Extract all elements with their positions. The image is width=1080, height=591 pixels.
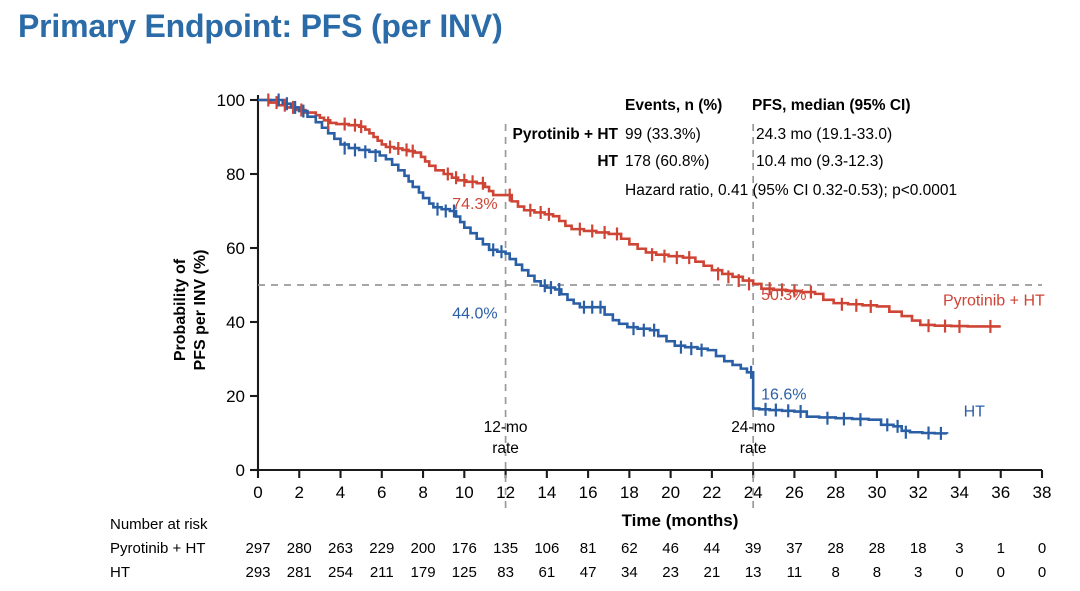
rate-label-24mo-control: 16.6% [761,387,806,404]
risk-count-cell: 280 [282,540,316,557]
risk-count-cell: 47 [571,564,605,581]
page-title: Primary Endpoint: PFS (per INV) [18,8,503,45]
risk-count-cell: 28 [819,540,853,557]
x-tick-label: 34 [950,483,969,502]
stat-median-control: 10.4 mo (9.3-12.3) [756,153,884,170]
risk-count-cell: 0 [1025,564,1059,581]
x-tick-label: 0 [253,483,262,502]
x-tick-label: 38 [1033,483,1052,502]
risk-count-cell: 21 [695,564,729,581]
stat-events-control: 178 (60.8%) [625,153,709,170]
x-tick-label: 28 [826,483,845,502]
landmark-label-24mo-line1: 24-mo [731,419,775,436]
risk-count-cell: 263 [324,540,358,557]
table-row: Pyrotinib + HT 2972802632292001761351068… [0,540,1080,564]
stat-col-header-median: PFS, median (95% CI) [752,97,910,114]
y-axis-title-line1: Probability of [172,258,189,361]
hazard-ratio-text: Hazard ratio, 0.41 (95% CI 0.32-0.53); p… [625,182,957,199]
number-at-risk-table: Number at risk Pyrotinib + HT 2972802632… [0,516,1080,591]
y-axis-title: Probability of PFS per INV (%) [172,250,209,371]
x-tick-label: 18 [620,483,639,502]
stat-median-treatment: 24.3 mo (19.1-33.0) [756,126,892,143]
rate-label-24mo-treatment: 50.3% [761,287,806,304]
x-tick-label: 30 [867,483,886,502]
rate-label-12mo-treatment: 74.3% [452,196,497,213]
x-tick-label: 14 [537,483,556,502]
x-tick-label: 22 [702,483,721,502]
risk-table-heading: Number at risk [110,516,208,533]
censor-marks [268,94,990,440]
risk-count-cell: 0 [984,564,1018,581]
risk-count-cell: 1 [984,540,1018,557]
risk-count-cell: 297 [241,540,275,557]
risk-count-cell: 293 [241,564,275,581]
km-survival-plot: Probability of PFS per INV (%) 020406080… [0,60,1080,530]
risk-count-cell: 3 [942,540,976,557]
risk-count-cell: 229 [365,540,399,557]
x-tick-label: 36 [991,483,1010,502]
risk-count-cell: 8 [860,564,894,581]
risk-count-cell: 254 [324,564,358,581]
risk-table-heading-row: Number at risk [0,516,1080,540]
risk-count-cell: 81 [571,540,605,557]
table-row: HT 2932812542111791258361473423211311883… [0,564,1080,588]
risk-count-cell: 39 [736,540,770,557]
risk-count-cell: 125 [447,564,481,581]
risk-count-cell: 23 [654,564,688,581]
curve-label-treatment: Pyrotinib + HT [943,292,1045,309]
risk-count-cell: 8 [819,564,853,581]
risk-count-cell: 106 [530,540,564,557]
risk-count-cell: 0 [942,564,976,581]
risk-count-cell: 46 [654,540,688,557]
risk-count-cell: 0 [1025,540,1059,557]
x-tick-label: 10 [455,483,474,502]
reference-lines [258,118,1042,508]
y-tick-label: 60 [226,239,245,258]
risk-count-cell: 62 [612,540,646,557]
x-tick-label: 2 [295,483,304,502]
y-tick-label: 100 [217,91,245,110]
risk-row-label-treatment: Pyrotinib + HT [110,540,205,557]
risk-count-cell: 281 [282,564,316,581]
risk-row-label-control: HT [110,564,130,581]
km-chart-container: Probability of PFS per INV (%) 020406080… [0,60,1080,530]
risk-count-cell: 13 [736,564,770,581]
y-tick-label: 80 [226,165,245,184]
risk-count-cell: 44 [695,540,729,557]
stat-events-treatment: 99 (33.3%) [625,126,701,143]
risk-count-cell: 211 [365,564,399,581]
x-tick-label: 32 [909,483,928,502]
risk-count-cell: 179 [406,564,440,581]
risk-count-cell: 18 [901,540,935,557]
risk-count-cell: 83 [489,564,523,581]
risk-count-cell: 3 [901,564,935,581]
risk-count-cell: 176 [447,540,481,557]
y-tick-label: 0 [236,461,245,480]
x-tick-label: 20 [661,483,680,502]
rate-label-12mo-control: 44.0% [452,305,497,322]
risk-count-cell: 34 [612,564,646,581]
risk-count-cell: 135 [489,540,523,557]
risk-count-cell: 11 [777,564,811,581]
stat-col-header-events: Events, n (%) [625,97,722,114]
y-tick-label: 20 [226,387,245,406]
x-tick-label: 8 [418,483,427,502]
survival-curve-control [258,100,947,434]
landmark-label-24mo-line2: rate [740,440,767,457]
x-tick-label: 4 [336,483,345,502]
risk-count-cell: 28 [860,540,894,557]
x-tick-label: 6 [377,483,386,502]
y-axis-title-line2: PFS per INV (%) [192,250,209,371]
curve-label-control: HT [964,403,986,420]
x-tick-label: 26 [785,483,804,502]
survival-curves [258,100,1001,434]
landmark-label-12mo-line1: 12-mo [484,419,528,436]
risk-count-cell: 37 [777,540,811,557]
risk-count-cell: 200 [406,540,440,557]
risk-count-cell: 61 [530,564,564,581]
landmark-label-12mo-line2: rate [492,440,519,457]
stat-row-label-treatment: Pyrotinib + HT [513,126,619,143]
stat-row-label-control: HT [597,153,618,170]
x-tick-label: 16 [579,483,598,502]
y-tick-label: 40 [226,313,245,332]
statistics-legend: Events, n (%) PFS, median (95% CI) Pyrot… [513,97,958,199]
